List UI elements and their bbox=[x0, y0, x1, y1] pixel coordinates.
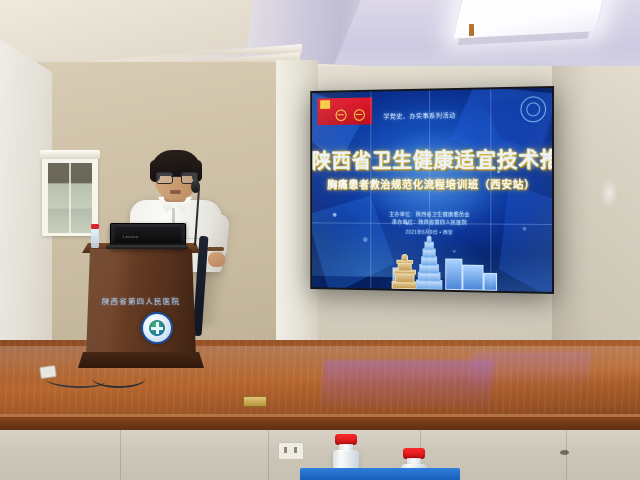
banner-emblem-icon bbox=[336, 109, 347, 121]
doorway-header bbox=[40, 150, 100, 159]
podium-engraved-text: 陕西省第四人民医院 bbox=[85, 296, 197, 307]
bell-tower-icon bbox=[393, 256, 417, 289]
bg-particle bbox=[363, 237, 368, 242]
wall-shadow bbox=[552, 66, 640, 366]
laptop-brand-label: Lenovo bbox=[123, 234, 139, 239]
speaker-mouth bbox=[170, 190, 181, 194]
skyline-building bbox=[445, 258, 462, 290]
wristwatch bbox=[207, 247, 224, 251]
microphone-head-icon bbox=[191, 180, 200, 193]
podium-water-bottle bbox=[91, 228, 99, 248]
eyeglasses-icon bbox=[156, 172, 196, 182]
speaker-hand bbox=[208, 252, 225, 267]
floor-cable bbox=[92, 368, 146, 388]
conference-hall-photo: 学党史、办实事系列活动 陕西省卫生健康适宜技术推广项目 胸痛患者救治规范化流程培… bbox=[0, 0, 640, 480]
screen-main-title: 陕西省卫生健康适宜技术推广项目 bbox=[312, 144, 552, 175]
stage-edge-highlight bbox=[0, 414, 640, 417]
banner-emblem-icon bbox=[354, 109, 365, 121]
panel-seam bbox=[429, 90, 430, 289]
podium-base bbox=[78, 352, 204, 368]
panel-seam bbox=[370, 92, 371, 289]
floor-tile-line bbox=[268, 430, 269, 480]
led-video-wall[interactable]: 学党史、办实事系列活动 陕西省卫生健康适宜技术推广项目 胸痛患者救治规范化流程培… bbox=[310, 86, 554, 294]
light-fixture-bracket bbox=[469, 24, 474, 36]
foreground-blue-object bbox=[300, 468, 460, 480]
floor-tile-line bbox=[566, 430, 567, 480]
floor-mark bbox=[560, 450, 569, 455]
ceiling-light-panel bbox=[452, 0, 606, 40]
xian-skyline-illustration bbox=[393, 233, 496, 291]
party-flag-icon bbox=[320, 100, 330, 109]
doorway-mullion bbox=[69, 163, 71, 233]
skyline-building bbox=[463, 265, 484, 291]
power-adapter bbox=[39, 365, 57, 379]
wall-power-outlet[interactable] bbox=[278, 442, 304, 460]
floor-tile-line bbox=[120, 430, 121, 480]
screen-banner-text: 学党史、办实事系列活动 bbox=[383, 110, 455, 121]
screen-subtitle: 胸痛患者救治规范化流程培训班（西安站） bbox=[312, 176, 552, 192]
party-history-banner bbox=[317, 97, 372, 125]
panel-seam bbox=[490, 89, 491, 290]
hospital-emblem-icon bbox=[141, 312, 173, 344]
laptop-base bbox=[106, 245, 188, 249]
screen-surface: 学党史、办实事系列活动 陕西省卫生健康适宜技术推广项目 胸痛患者救治规范化流程培… bbox=[312, 88, 552, 292]
brass-floor-plate bbox=[243, 396, 267, 407]
wall-highlight bbox=[600, 178, 618, 208]
